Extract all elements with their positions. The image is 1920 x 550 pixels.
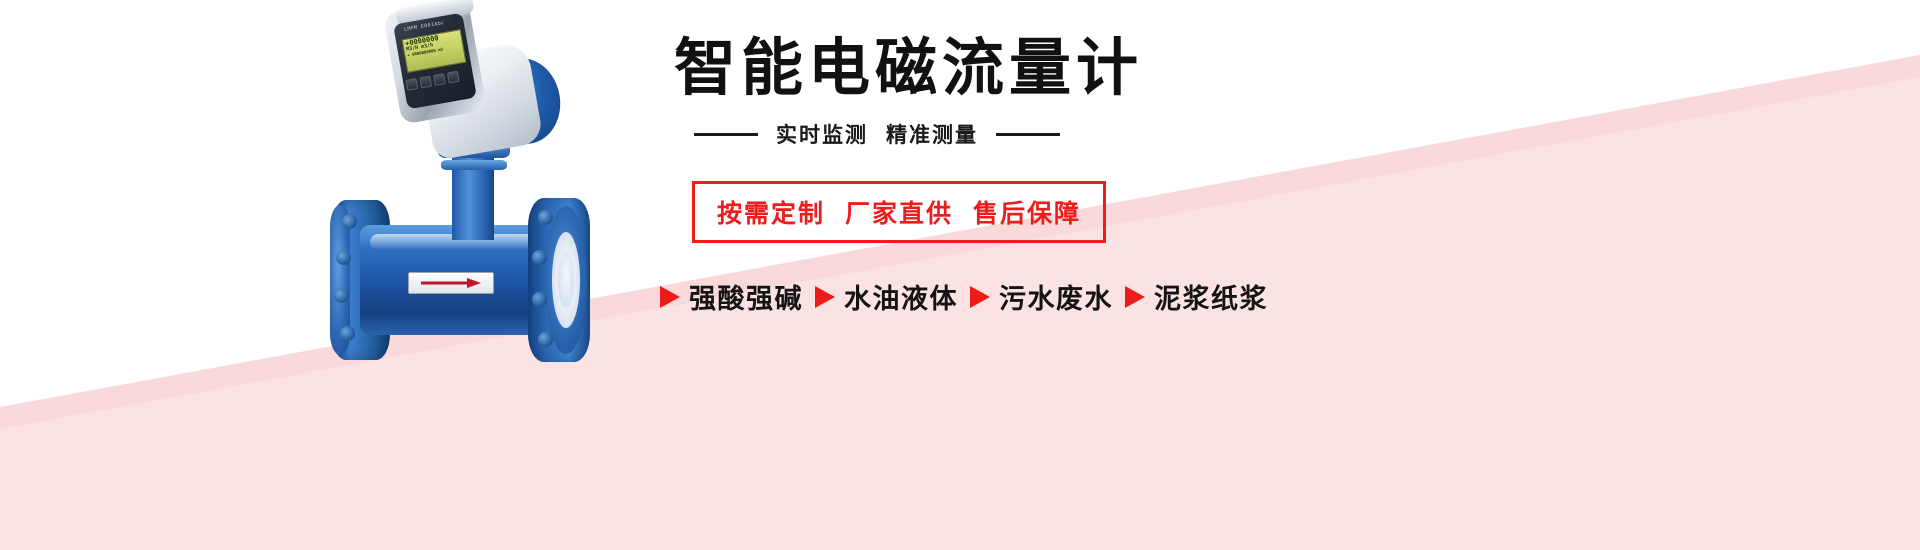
triangle-right-icon xyxy=(1125,286,1145,308)
subtitle-left: 实时监测 xyxy=(776,124,868,147)
triangle-right-icon xyxy=(660,286,680,308)
subtitle-rule-right xyxy=(996,133,1060,136)
right-flange-bore xyxy=(558,252,574,308)
list-item: 水油液体 xyxy=(815,277,958,316)
flow-direction-tag xyxy=(408,272,494,294)
keypad-button[interactable] xyxy=(405,78,418,91)
neck-ring-lower xyxy=(441,160,507,170)
flange-bolt xyxy=(532,250,547,265)
banner-title: 智能电磁流量计 xyxy=(660,36,1660,101)
list-item-label: 污水废水 xyxy=(999,277,1113,316)
banner-subtitle: 实时监测精准测量 xyxy=(660,119,1660,149)
keypad-button[interactable] xyxy=(419,75,432,88)
promo-text: 按需定制厂家直供售后保障 xyxy=(717,194,1081,230)
flow-direction-arrow-icon xyxy=(419,277,483,289)
list-item-label: 水油液体 xyxy=(844,277,958,316)
flange-bolt xyxy=(342,214,357,229)
flange-bolt xyxy=(532,292,547,307)
keypad-button[interactable] xyxy=(447,70,460,83)
flange-bolt xyxy=(336,250,351,265)
list-item: 强酸强碱 xyxy=(660,277,803,316)
list-item: 泥浆纸浆 xyxy=(1125,277,1268,316)
list-item-label: 泥浆纸浆 xyxy=(1154,277,1268,316)
flange-bolt xyxy=(340,326,355,341)
list-item-label: 强酸强碱 xyxy=(689,277,803,316)
flange-bolt xyxy=(538,210,553,225)
triangle-right-icon xyxy=(970,286,990,308)
subtitle-text: 实时监测精准测量 xyxy=(776,119,978,149)
promo-item-3: 售后保障 xyxy=(973,200,1081,228)
flange-bolt xyxy=(334,288,349,303)
promo-box: 按需定制厂家直供售后保障 xyxy=(692,181,1106,243)
application-list: 强酸强碱 水油液体 污水废水 泥浆纸浆 xyxy=(660,277,1660,316)
keypad-button[interactable] xyxy=(433,73,446,86)
subtitle-right: 精准测量 xyxy=(886,124,978,147)
banner-copy: 智能电磁流量计 实时监测精准测量 按需定制厂家直供售后保障 强酸强碱 水油液体 … xyxy=(660,36,1660,496)
list-item: 污水废水 xyxy=(970,277,1113,316)
subtitle-rule-left xyxy=(694,133,758,136)
promo-item-1: 按需定制 xyxy=(717,200,825,228)
product-illustration: LMFM E001Abc +0000000 M3/H m3/h + 000000… xyxy=(300,0,650,440)
promo-item-2: 厂家直供 xyxy=(845,200,953,228)
product-banner: LMFM E001Abc +0000000 M3/H m3/h + 000000… xyxy=(0,0,1920,550)
flange-bolt xyxy=(538,332,553,347)
triangle-right-icon xyxy=(815,286,835,308)
